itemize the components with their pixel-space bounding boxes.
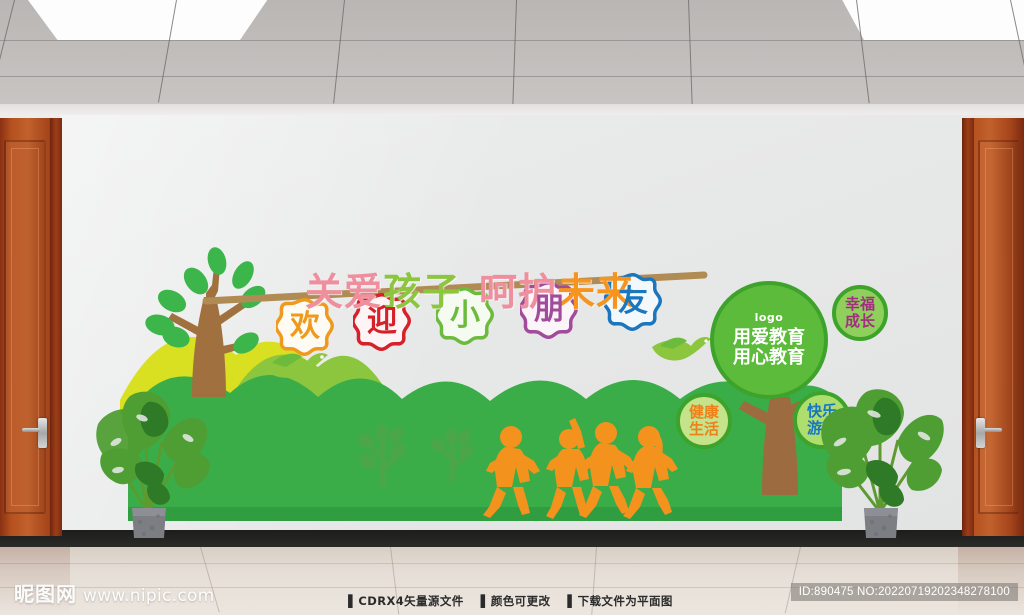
monstera-right	[812, 370, 948, 540]
tree-circle-main: logo 用爱教育 用心教育	[710, 281, 828, 399]
badge-char: 友	[618, 287, 648, 317]
watermark-brand: 昵图网	[14, 578, 77, 607]
plant-right	[812, 370, 948, 540]
ceiling-grid-line	[512, 0, 517, 104]
ceiling-light-panel-right	[840, 0, 1024, 40]
badge-char: 朋	[534, 295, 564, 325]
caption-item-2: 颜色可更改	[491, 594, 551, 608]
badge-char: 迎	[367, 307, 397, 337]
caption-bullet-2: ▌	[481, 594, 490, 608]
monstera-left	[84, 372, 214, 540]
tree-circle-healthy-life: 健康 生活	[676, 393, 732, 449]
badge-char: 欢	[290, 312, 320, 342]
ceiling-grid-line	[0, 76, 1024, 77]
ceiling-grid-line	[0, 0, 15, 101]
ceiling	[0, 0, 1024, 115]
tree-circle-happy-growth: 幸福 成长	[832, 285, 888, 341]
ceiling-grid-line	[333, 0, 345, 103]
circle-line-1: 健康	[689, 404, 719, 421]
caption-bullet-1: ▌	[348, 594, 357, 608]
room-scene: 欢 迎 小 朋 友 关爱	[0, 0, 1024, 615]
badge-char: 小	[450, 301, 480, 331]
circle-line-1: 幸福	[845, 296, 875, 313]
main-circle-line-1: 用爱教育	[733, 328, 805, 348]
circle-line-2: 成长	[845, 313, 875, 330]
site-watermark: 昵图网 www.nipic.com	[14, 578, 215, 607]
plant-left	[84, 372, 214, 540]
ceiling-edge	[0, 104, 1024, 115]
ceiling-grid-line	[0, 40, 1024, 41]
grass-band	[128, 375, 842, 521]
ceiling-light-panel-left	[20, 0, 270, 40]
main-circle-line-2: 用心教育	[733, 348, 805, 368]
watermark-url: www.nipic.com	[83, 586, 215, 606]
floor-tile-line	[0, 563, 1024, 564]
caption-bullet-3: ▌	[567, 594, 576, 608]
image-id-watermark: ID:890475 NO:20220719202348278100	[791, 583, 1018, 601]
caption-item-3: 下载文件为平面图	[578, 594, 673, 608]
logo-placeholder: logo	[755, 312, 784, 324]
ceiling-grid-line	[688, 0, 693, 104]
circle-line-2: 生活	[689, 421, 719, 438]
caption-item-1: CDRX4矢量源文件	[358, 594, 463, 608]
